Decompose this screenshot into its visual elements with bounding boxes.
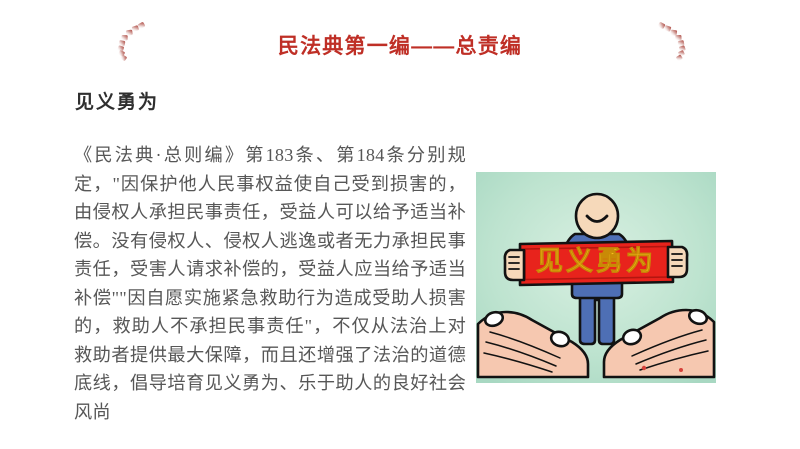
section-heading: 见义勇为: [75, 92, 159, 115]
page-title: 民法典第一编——总责编: [278, 36, 522, 57]
bead-arc-ornament-left: [92, 14, 162, 66]
bead-arc-ornament-right: [641, 14, 711, 66]
body-paragraph: 《民法典·总则编》第183条、第184条分别规定，"因保护他人民事权益使自己受到…: [74, 141, 466, 426]
slide-canvas: 民法典第一编——总责编: [0, 0, 800, 449]
illustration-banner-text: 见义勇为: [536, 246, 656, 276]
illustration-figure-with-banner: 见义勇为: [476, 172, 716, 383]
